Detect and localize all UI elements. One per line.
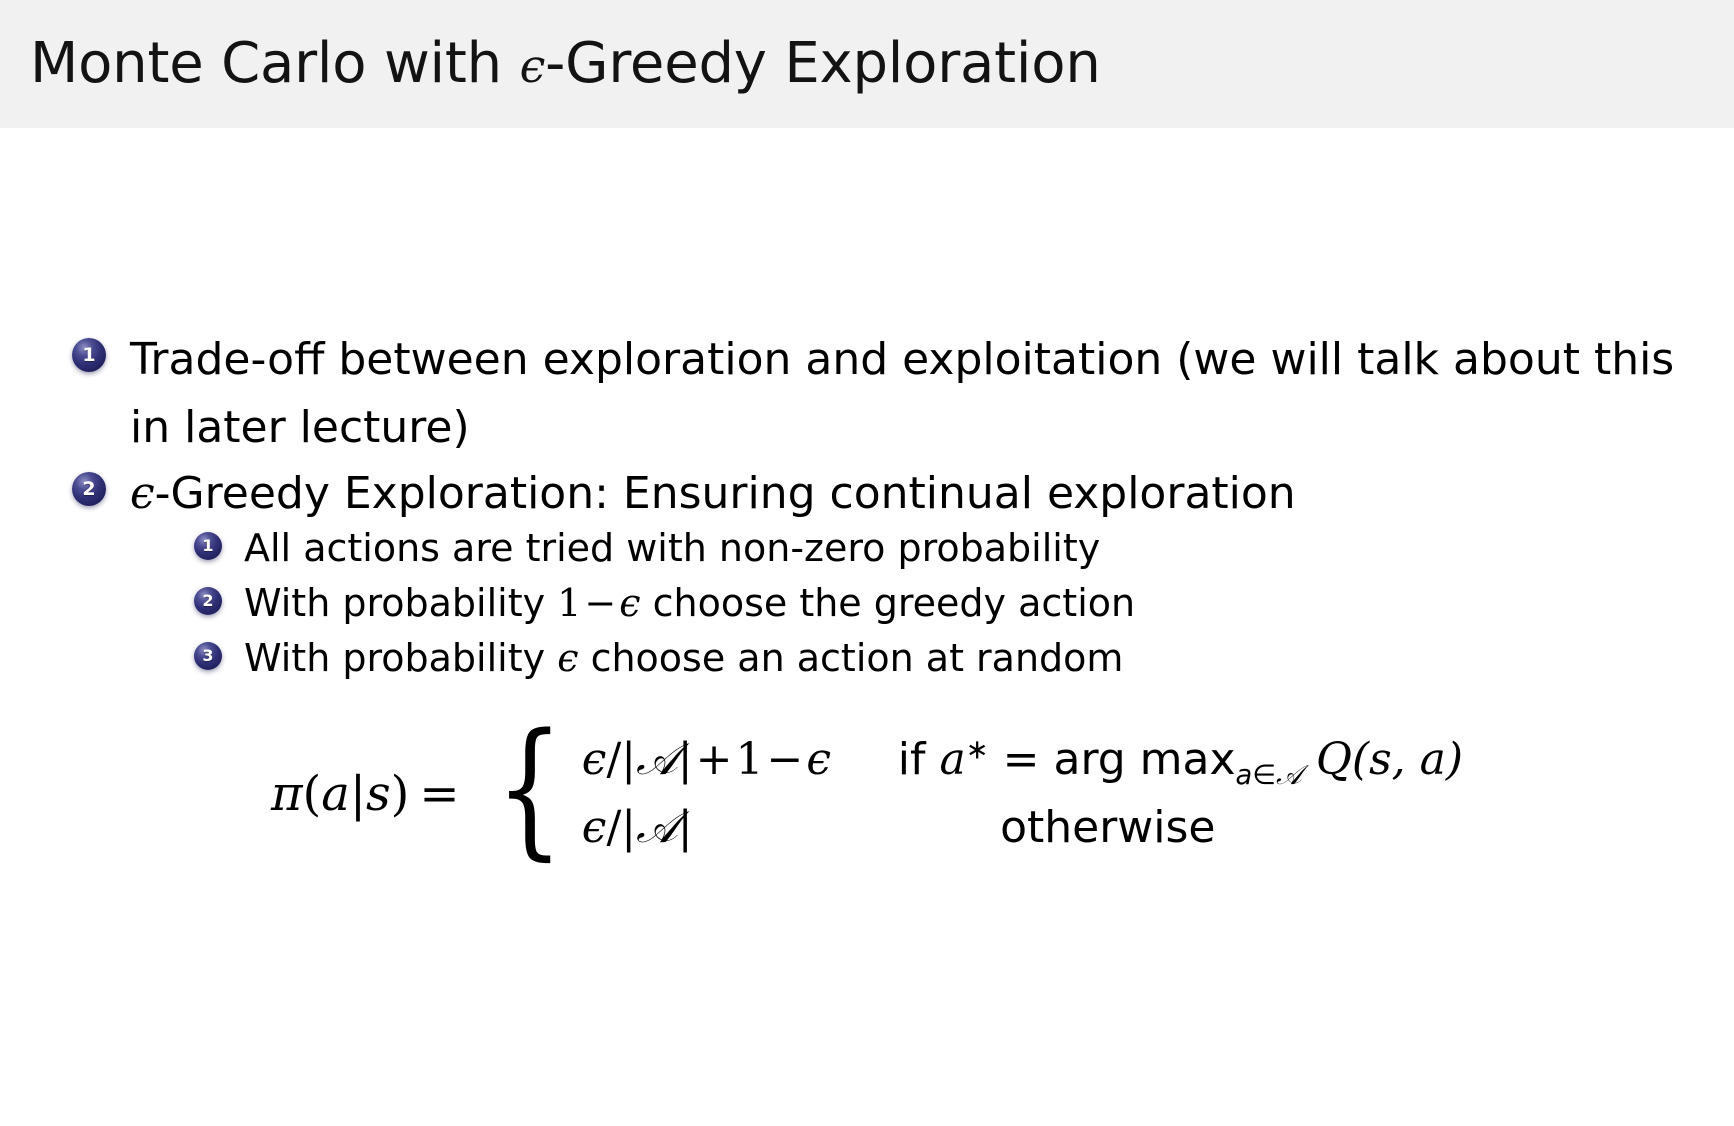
epsilon-symbol: ϵ xyxy=(619,581,640,625)
abs-open: | xyxy=(621,802,636,853)
variable-s: s xyxy=(366,766,391,822)
bullet-number-badge: 1 xyxy=(72,338,106,372)
q-function-args: (s, a) xyxy=(1352,734,1463,785)
variable-a: a xyxy=(321,766,350,822)
equation-case-row: ϵ/|𝒜| otherwise xyxy=(582,802,1463,853)
title-prefix: Monte Carlo with xyxy=(30,31,520,96)
slash: / xyxy=(606,802,621,853)
subbullet-number-badge: 3 xyxy=(194,642,222,670)
sub-list-item: 2 With probability 1−ϵ choose the greedy… xyxy=(194,576,1135,630)
list-item-text-rest: -Greedy Exploration: Ensuring continual … xyxy=(155,468,1296,519)
title-suffix: -Greedy Exploration xyxy=(545,31,1101,96)
slash: / xyxy=(606,734,621,785)
case-2-condition: otherwise xyxy=(882,802,1318,853)
list-item-text: ϵ-Greedy Exploration: Ensuring continual… xyxy=(130,460,1296,528)
abs-open: | xyxy=(621,734,636,785)
argmax-sub-a: a xyxy=(1236,760,1253,791)
sub-list-item-text: With probability ϵ choose an action at r… xyxy=(244,631,1123,685)
minus-operator: − xyxy=(763,734,806,785)
sub-list-item-text: With probability 1−ϵ choose the greedy a… xyxy=(244,576,1135,630)
case-1-value: ϵ/|𝒜|+1−ϵ xyxy=(582,734,882,785)
epsilon-symbol: ϵ xyxy=(582,802,607,853)
slide-body: 1 Trade-off between exploration and expl… xyxy=(0,128,1734,1126)
pi-symbol: π xyxy=(271,766,303,822)
plus-operator: + xyxy=(693,734,736,785)
sub-text-before: With probability xyxy=(244,581,557,625)
element-of-symbol: ∈ xyxy=(1252,760,1276,791)
otherwise-keyword: otherwise xyxy=(898,802,1318,853)
q-function-symbol: Q xyxy=(1316,734,1352,785)
epsilon-symbol-2: ϵ xyxy=(806,734,831,785)
epsilon-symbol: ϵ xyxy=(557,636,578,680)
abs-close: | xyxy=(678,734,693,785)
sub-list-item: 3 With probability ϵ choose an action at… xyxy=(194,631,1123,685)
sub-text-after: choose an action at random xyxy=(578,636,1123,680)
list-item: 2 ϵ-Greedy Exploration: Ensuring continu… xyxy=(72,460,1692,528)
conditional-bar: | xyxy=(350,766,366,822)
subbullet-number-badge: 2 xyxy=(194,587,222,615)
slide-header-band: Monte Carlo with ϵ-Greedy Exploration xyxy=(0,0,1734,128)
list-item-text: Trade-off between exploration and exploi… xyxy=(130,326,1690,462)
minus-operator: − xyxy=(581,581,619,625)
subbullet-number-badge: 1 xyxy=(194,532,222,560)
epsilon-symbol: ϵ xyxy=(582,734,607,785)
equals-sign: = xyxy=(1003,734,1040,785)
open-paren: ( xyxy=(303,766,322,822)
argmax-operator: arg max xyxy=(1053,734,1235,785)
script-a-symbol: 𝒜 xyxy=(636,734,678,785)
sub-text-after: choose the greedy action xyxy=(641,581,1136,625)
equation-left-hand-side: π(a|s)= xyxy=(271,766,480,822)
equation-inner: π(a|s)= { ϵ/|𝒜|+1−ϵ if a∗ = arg maxa∈𝒜 Q… xyxy=(271,728,1463,859)
if-keyword: if xyxy=(898,734,926,785)
sub-list-item: 1 All actions are tried with non-zero pr… xyxy=(194,521,1100,575)
star-superscript: ∗ xyxy=(966,735,989,766)
title-epsilon-symbol: ϵ xyxy=(520,39,546,93)
optimal-action-a: a xyxy=(940,734,966,785)
sub-list-item-text: All actions are tried with non-zero prob… xyxy=(244,521,1100,575)
page-title: Monte Carlo with ϵ-Greedy Exploration xyxy=(30,28,1101,102)
list-item: 1 Trade-off between exploration and expl… xyxy=(72,326,1692,462)
numeral-one: 1 xyxy=(735,734,763,785)
case-1-condition: if a∗ = arg maxa∈𝒜 Q(s, a) xyxy=(882,734,1463,792)
epsilon-symbol: ϵ xyxy=(130,468,155,519)
close-paren: ) xyxy=(391,766,410,822)
bullet-number-badge: 2 xyxy=(72,472,106,506)
equals-sign: = xyxy=(409,766,469,822)
equation-case-row: ϵ/|𝒜|+1−ϵ if a∗ = arg maxa∈𝒜 Q(s, a) xyxy=(582,734,1463,792)
argmax-sub-script-a: 𝒜 xyxy=(1276,760,1302,791)
sub-text-before: With probability xyxy=(244,636,557,680)
numeral-one: 1 xyxy=(557,581,581,625)
cases-brace: { xyxy=(494,728,568,859)
case-2-value: ϵ/|𝒜| xyxy=(582,802,882,853)
equation-cases: ϵ/|𝒜|+1−ϵ if a∗ = arg maxa∈𝒜 Q(s, a) ϵ/|… xyxy=(582,734,1463,853)
policy-equation: π(a|s)= { ϵ/|𝒜|+1−ϵ if a∗ = arg maxa∈𝒜 Q… xyxy=(0,728,1734,859)
script-a-symbol: 𝒜 xyxy=(636,802,678,853)
abs-close: | xyxy=(678,802,693,853)
